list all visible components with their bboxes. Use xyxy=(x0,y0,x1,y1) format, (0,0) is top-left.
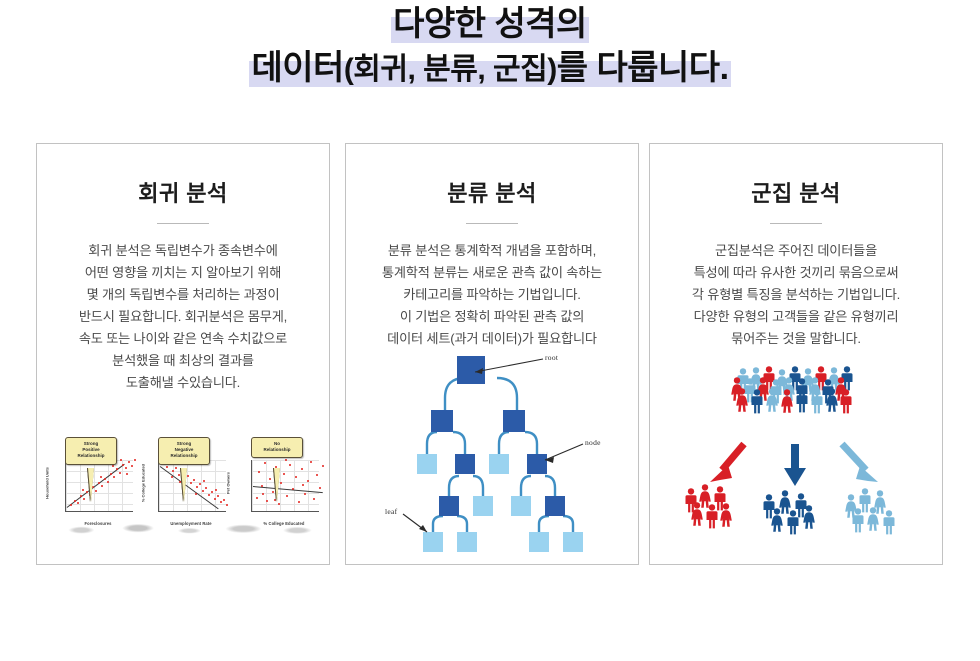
tree-label-node: node xyxy=(585,438,601,447)
scatter-plot-positive-axes xyxy=(65,460,133,512)
callout-tail-positive xyxy=(88,468,94,502)
title-line-2-wrapper: 데이터(회귀, 분류, 군집)를 다룹니다. xyxy=(249,49,730,87)
card-classification[interactable]: 분류 분석 분류 분석은 통계학적 개념을 포함하며, 통계학적 분류는 새로운… xyxy=(345,143,639,565)
tree-label-leaf: leaf xyxy=(385,507,397,516)
tree-annotation-lines xyxy=(393,356,593,538)
title-bold-data: 데이터 xyxy=(251,49,343,87)
title-line-2: 데이터(회귀, 분류, 군집)를 다룹니다. xyxy=(0,46,980,92)
scatter-positive-callout: Strong Positive Relationship xyxy=(65,437,117,465)
callout-tail-negative xyxy=(181,468,187,502)
clustering-illustration xyxy=(682,366,912,546)
title-line-1-text: 다양한 성격의 xyxy=(391,5,589,43)
card-regression[interactable]: 회귀 분석 회귀 분석은 독립변수가 종속변수에 어떤 영향을 끼치는 지 알아… xyxy=(36,143,330,565)
card-classification-body: 분류 분석은 통계학적 개념을 포함하며, 통계학적 분류는 새로운 관측 값이… xyxy=(358,240,626,350)
card-regression-body: 회귀 분석은 독립변수가 종속변수에 어떤 영향을 끼치는 지 알아보기 위해 … xyxy=(49,240,317,394)
card-regression-title: 회귀 분석 xyxy=(37,176,329,208)
cluster-arrow-dark-blue xyxy=(784,444,806,486)
cluster-group-dark-blue xyxy=(764,490,815,534)
slide-page: 다양한 성격의 데이터(회귀, 분류, 군집)를 다룹니다. 회귀 분석 회귀 … xyxy=(0,0,980,661)
card-clustering-divider xyxy=(770,223,822,224)
card-classification-title: 분류 분석 xyxy=(346,176,638,208)
tree-label-root: root xyxy=(545,353,558,362)
callout-tail-none xyxy=(274,468,280,502)
scatter-negative-callout: Strong Negative Relationship xyxy=(158,437,210,465)
scatter-none-callout: No Relationship xyxy=(251,437,303,458)
card-regression-divider xyxy=(157,223,209,224)
cluster-group-red xyxy=(686,484,732,528)
cluster-arrow-red xyxy=(710,444,744,482)
scatter-plot-negative: Unemployment Rate % College Educated Str… xyxy=(140,440,228,526)
scatter-plot-none-axes xyxy=(251,460,319,512)
scatter-plot-positive: Foreclosures Household Units Strong Posi… xyxy=(47,440,135,526)
decision-tree-figure: root node leaf xyxy=(346,356,640,538)
page-title: 다양한 성격의 데이터(회귀, 분류, 군집)를 다룹니다. xyxy=(0,2,980,92)
card-classification-divider xyxy=(466,223,518,224)
scatter-positive-ylabel: Household Units xyxy=(44,467,49,499)
cluster-arrow-light-blue xyxy=(842,444,878,482)
card-clustering[interactable]: 군집 분석 군집분석은 주어진 데이터들을 특성에 따라 유사한 것끼리 묶음으… xyxy=(649,143,943,565)
cluster-group-light-blue xyxy=(845,488,894,534)
title-light-parenthetical: (회귀, 분류, 군집) xyxy=(344,53,557,86)
scatter-none-ylabel: Pet Owners xyxy=(226,472,231,494)
scatter-negative-ylabel: % College Educated xyxy=(141,464,146,502)
scatter-plots-figure: Foreclosures Household Units Strong Posi… xyxy=(37,426,331,534)
card-grid: 회귀 분석 회귀 분석은 독립변수가 종속변수에 어떤 영향을 끼치는 지 알아… xyxy=(36,143,946,565)
scatter-plot-negative-axes xyxy=(158,460,226,512)
ground-shadow xyxy=(49,521,319,534)
card-clustering-title: 군집 분석 xyxy=(650,176,942,208)
title-line-1: 다양한 성격의 xyxy=(0,2,980,46)
card-clustering-body: 군집분석은 주어진 데이터들을 특성에 따라 유사한 것끼리 묶음으로써 각 유… xyxy=(662,240,930,350)
scatter-plot-none: % College Educated Pet Owners No Relatio… xyxy=(233,440,321,526)
clustering-figure xyxy=(650,366,944,546)
trend-line-negative xyxy=(160,466,219,509)
title-bold-tail: 를 다룹니다. xyxy=(557,49,729,87)
